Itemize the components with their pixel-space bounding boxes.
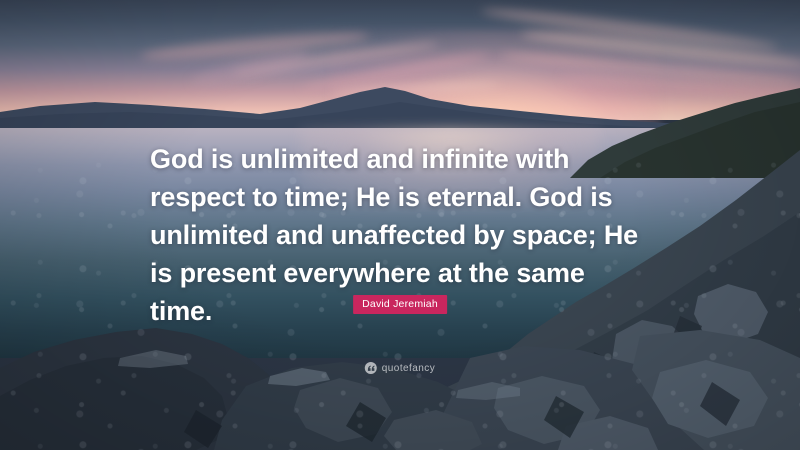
quotefancy-watermark[interactable]: quotefancy (365, 362, 435, 374)
quote-mark-icon (365, 362, 377, 374)
quote-poster: God is unlimited and infinite with respe… (0, 0, 800, 450)
poster-content: God is unlimited and infinite with respe… (0, 0, 800, 450)
watermark-label: quotefancy (382, 363, 435, 374)
author-badge: David Jeremiah (353, 295, 447, 314)
